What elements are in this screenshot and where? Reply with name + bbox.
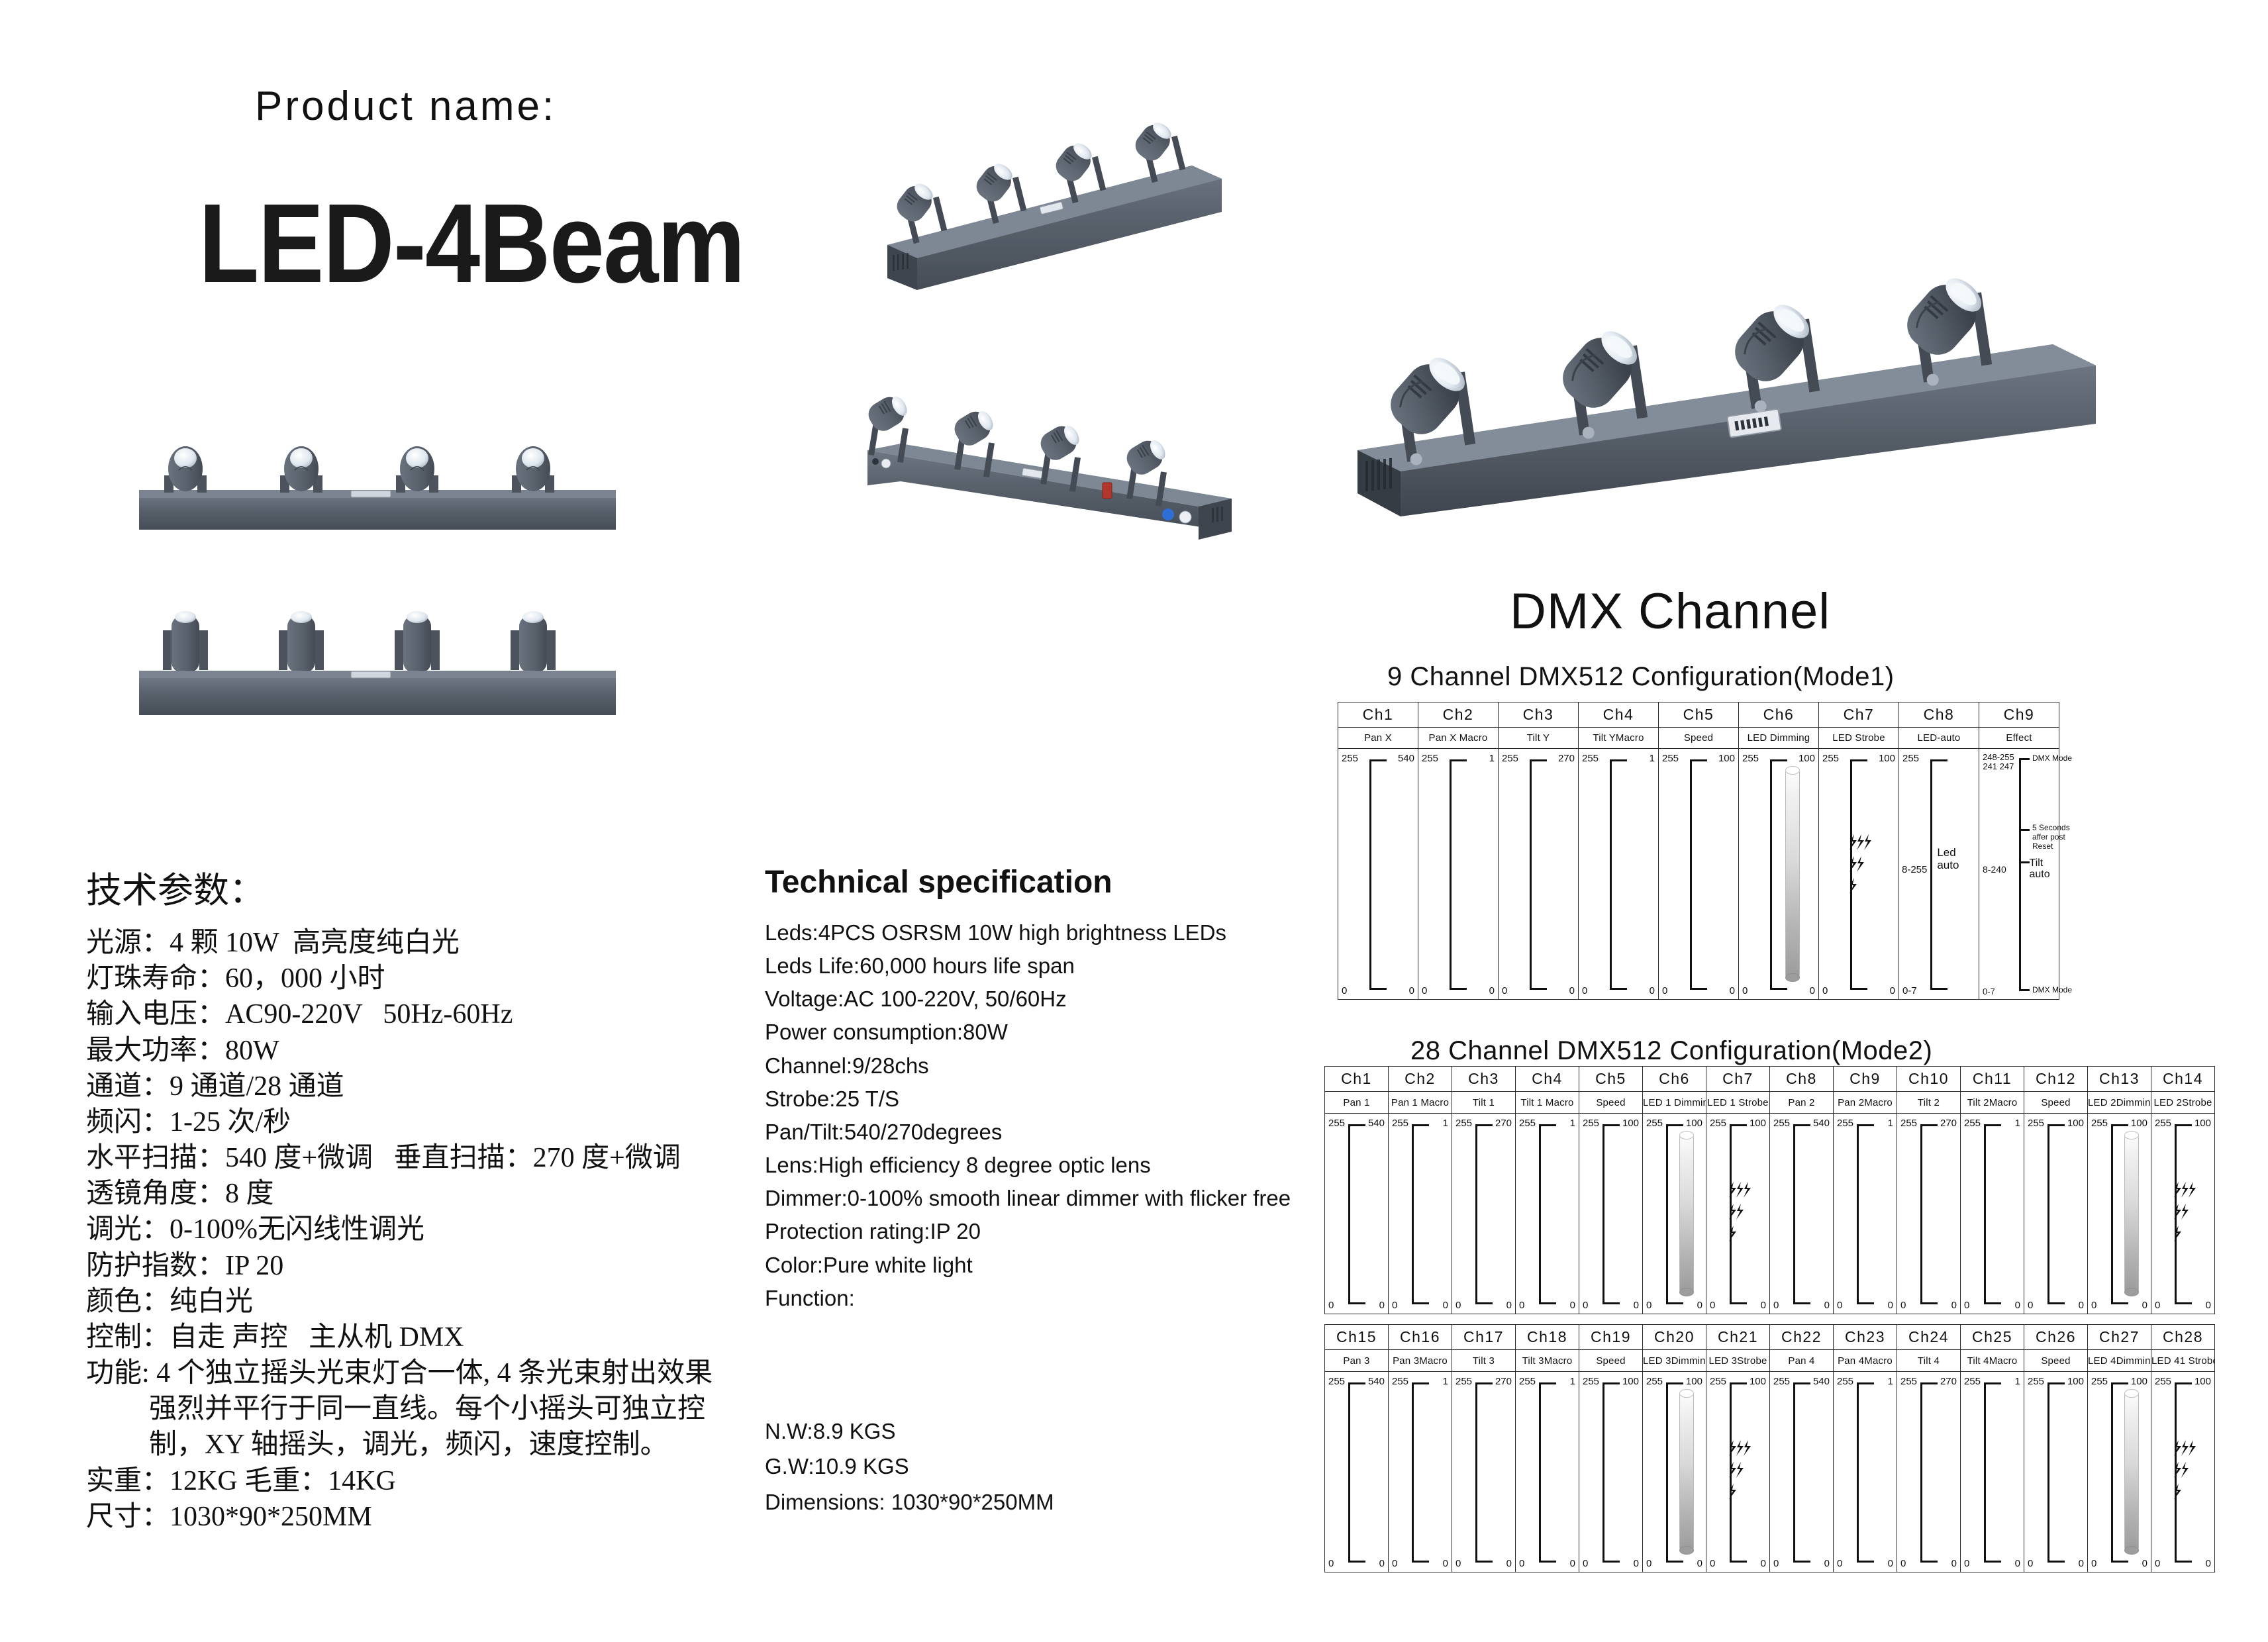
english-weight-line: G.W:10.9 KGS (765, 1449, 1314, 1484)
dmx-range-cell: 25510000 (1643, 1372, 1706, 1572)
dmx-range-container: 255100 (1834, 1371, 1897, 1572)
dmx-channel-header: Ch4 (1579, 702, 1659, 728)
dmx-header-row: Ch1Ch2Ch3Ch4Ch5Ch6Ch7Ch8Ch9 (1338, 702, 2059, 728)
dmx-channel-header: Ch9 (1834, 1067, 1897, 1092)
dmx-function-label: Tilt 4Macro (1961, 1350, 2024, 1371)
chinese-spec-line: 水平扫描：540 度+微调 垂直扫描：270 度+微调 (86, 1140, 755, 1176)
product-photo-front-bottom (132, 603, 622, 728)
dmx-range-container: 255100 (1389, 1113, 1452, 1314)
dimmer-tube-icon (2124, 1389, 2139, 1555)
dmx-range-cell: 25510000 (1659, 749, 1738, 999)
dmx-channel-header: Ch18 (1516, 1325, 1579, 1350)
dmx-channel-header: Ch2 (1389, 1067, 1452, 1092)
chinese-spec-block: 技术参数： 光源：4 颗 10W 高亮度纯白光灯珠寿命：60，000 小时输入电… (86, 861, 755, 1535)
dmx-range-cell: 255100 (1389, 1372, 1452, 1572)
dmx-function-label: Speed (2024, 1350, 2088, 1371)
chinese-spec-heading: 技术参数： (86, 861, 755, 913)
dmx-range-cell: 25554000 (1770, 1114, 1833, 1314)
dmx-function-label: Tilt Y (1499, 728, 1579, 749)
dmx-range-container: 255100 (1418, 749, 1499, 1000)
dmx-channel-header: Ch28 (2151, 1325, 2215, 1350)
dmx-function-label: Tilt YMacro (1579, 728, 1659, 749)
english-spec-line: Pan/Tilt:540/270degrees (765, 1116, 1314, 1149)
dmx-channel-header: Ch26 (2024, 1325, 2088, 1350)
dmx-channel-header: Ch21 (1706, 1325, 1770, 1350)
english-spec-block: Technical specification Leds:4PCS OSRSM … (765, 864, 1314, 1315)
chinese-spec-line: 控制：自走 声控 主从机 DMX (86, 1320, 755, 1355)
dmx-channel-header: Ch12 (2024, 1067, 2088, 1092)
chinese-spec-line: 最大功率：80W (86, 1033, 755, 1069)
dmx-range-cell: 248-255241 2470-7DMX Mode5 Secondsaffer … (1979, 749, 2059, 999)
english-spec-heading: Technical specification (765, 864, 1314, 900)
dmx-range-cell: 25527000 (1452, 1372, 1515, 1572)
dmx-function-label: Pan 3Macro (1389, 1350, 1452, 1371)
chinese-spec-line: 尺寸：1030*90*250MM (86, 1499, 755, 1535)
dmx-range-container: 25510000 (1643, 1371, 1706, 1572)
dmx-range-container: 255100 (1834, 1113, 1897, 1314)
english-spec-line: Lens:High efficiency 8 degree optic lens (765, 1149, 1314, 1182)
dmx-channel-header: Ch8 (1899, 702, 1979, 728)
dmx-function-label: Speed (1659, 728, 1739, 749)
chinese-spec-line: 颜色：纯白光 (86, 1284, 755, 1320)
dmx-channel-header: Ch14 (2151, 1067, 2215, 1092)
page-title: LED-4Beam (199, 179, 744, 309)
dmx-range-cell: 255100 (1834, 1372, 1897, 1572)
chinese-spec-line: 通道：9 通道/28 通道 (86, 1069, 755, 1104)
dmx-function-label: Pan 4 (1770, 1350, 1834, 1371)
dmx-channel-header: Ch24 (1897, 1325, 1961, 1350)
dmx-function-label: Pan 2Macro (1834, 1092, 1897, 1113)
dmx-channel-header: Ch5 (1659, 702, 1739, 728)
dmx-range-container: 25510000 (1706, 1371, 1770, 1572)
dmx-table-mode1: Ch1Ch2Ch3Ch4Ch5Ch6Ch7Ch8Ch9Pan XPan X Ma… (1338, 702, 2059, 1000)
dmx-range-cell: 25527000 (1499, 749, 1578, 999)
dmx-channel-header: Ch7 (1706, 1067, 1770, 1092)
dmx-range-cell: 25554000 (1770, 1372, 1833, 1572)
chinese-spec-line: 功能: 4 个独立摇头光束灯合一体, 4 条光束射出效果 (86, 1355, 755, 1391)
english-spec-line: Color:Pure white light (765, 1249, 1314, 1282)
dmx-table-mode2-row2: Ch15Ch16Ch17Ch18Ch19Ch20Ch21Ch22Ch23Ch24… (1324, 1324, 2215, 1572)
dmx-range-cell: 255100 (1418, 749, 1498, 999)
chinese-spec-line: 强烈并平行于同一直线。每个小摇头可独立控 (86, 1391, 755, 1427)
dmx-channel-header: Ch6 (1643, 1067, 1706, 1092)
dmx-range-cell: 25527000 (1897, 1372, 1960, 1572)
dmx-range-cell: 255100 (1389, 1114, 1452, 1314)
chinese-spec-line: 频闪：1-25 次/秒 (86, 1104, 755, 1140)
dmx-function-label: Speed (1579, 1092, 1643, 1113)
dmx-function-label: Pan 4Macro (1834, 1350, 1897, 1371)
dmx-function-row: Pan XPan X MacroTilt YTilt YMacroSpeedLE… (1338, 728, 2059, 749)
dmx-channel-header: Ch25 (1961, 1325, 2024, 1350)
dmx-function-label: Pan 3 (1325, 1350, 1389, 1371)
dmx-function-label: LED Dimming (1739, 728, 1819, 749)
dmx-range-container: 25510000 (1579, 1113, 1643, 1314)
product-photo-front-top (132, 444, 622, 536)
fixture-front-view-2-svg (132, 603, 622, 728)
dmx-range-cell: 25510000 (2088, 1114, 2151, 1314)
dmx-range-row: 2555400025510025527000255100255100002551… (1325, 1113, 2215, 1314)
dmx-function-label: LED 41 Strobe (2151, 1350, 2215, 1371)
dmx-range-cell: 25510000 (1643, 1114, 1706, 1314)
dmx-range-cell: 255100 (1516, 1114, 1579, 1314)
dmx-channel-header: Ch2 (1418, 702, 1499, 728)
dmx-range-container: 25527000 (1897, 1371, 1961, 1572)
dmx-function-label: Tilt 2Macro (1961, 1092, 2024, 1113)
dmx-range-cell: 25510000 (2024, 1372, 2087, 1572)
dmx-channel-header: Ch19 (1579, 1325, 1643, 1350)
english-spec-line: Protection rating:IP 20 (765, 1215, 1314, 1248)
dimmer-tube-icon (2124, 1131, 2139, 1296)
english-weight-line: Dimensions: 1030*90*250MM (765, 1484, 1314, 1520)
dmx-channel-header: Ch17 (1452, 1325, 1516, 1350)
english-spec-line: Strobe:25 T/S (765, 1083, 1314, 1116)
dmx-table-mode2-row1: Ch1Ch2Ch3Ch4Ch5Ch6Ch7Ch8Ch9Ch10Ch11Ch12C… (1324, 1066, 2215, 1314)
dmx-range-container: 25510000 (1739, 749, 1819, 1000)
dmx-channel-header: Ch6 (1739, 702, 1819, 728)
dmx-range-cell: 25527000 (1452, 1114, 1515, 1314)
dmx-function-label: LED-auto (1899, 728, 1979, 749)
dmx-range-cell: 25510000 (2088, 1372, 2151, 1572)
dmx-range-container: 25527000 (1499, 749, 1579, 1000)
mode2-title: 28 Channel DMX512 Configuration(Mode2) (1410, 1036, 1932, 1066)
dmx-channel-header: Ch3 (1499, 702, 1579, 728)
strobe-bolts-icon (2173, 1440, 2198, 1500)
dmx-function-label: Pan X Macro (1418, 728, 1499, 749)
dmx-range-row: 2555400025510025527000255100255100002551… (1325, 1371, 2215, 1572)
dmx-range-container: 255100 (1516, 1371, 1579, 1572)
chinese-spec-line: 透镜角度：8 度 (86, 1176, 755, 1212)
strobe-bolts-icon (1728, 1182, 1753, 1241)
dmx-range-container: 25510000 (2151, 1113, 2215, 1314)
dmx-range-container: 25554000 (1338, 749, 1418, 1000)
dmx-range-cell: 255100 (1834, 1114, 1897, 1314)
english-spec-line: Function: (765, 1282, 1314, 1315)
dmx-function-label: LED 4Dimming (2088, 1350, 2151, 1371)
dmx-range-cell: 25510000 (1579, 1114, 1642, 1314)
dmx-function-label: Pan X (1338, 728, 1418, 749)
dmx-range-container: 25527000 (1452, 1113, 1516, 1314)
english-spec-line: Channel:9/28chs (765, 1049, 1314, 1083)
english-spec-line: Voltage:AC 100-220V, 50/60Hz (765, 983, 1314, 1016)
dmx-range-container: 255100 (1579, 749, 1659, 1000)
chinese-spec-line: 制，XY 轴摇头，调光，频闪，速度控制。 (86, 1427, 755, 1463)
dmx-range-container: 25554000 (1770, 1371, 1834, 1572)
dmx-range-container: 255100 (1961, 1371, 2024, 1572)
product-photo-hero (1318, 93, 2112, 530)
dmx-range-container: 255100 (1961, 1113, 2024, 1314)
dmx-range-container: 25554000 (1770, 1113, 1834, 1314)
dmx-function-label: LED 2Strobe (2151, 1092, 2215, 1113)
dmx-range-cell: 255100 (1516, 1372, 1579, 1572)
fixture-angled-view-2-svg (854, 341, 1245, 540)
dmx-range-container: 25510000 (1819, 749, 1899, 1000)
dmx-range-container: 255100 (1516, 1113, 1579, 1314)
dmx-range-container: 248-255241 2470-7DMX Mode5 Secondsaffer … (1979, 749, 2059, 1000)
english-weights-list: N.W:8.9 KGSG.W:10.9 KGSDimensions: 1030*… (765, 1414, 1314, 1520)
dmx-range-container: 25510000 (1706, 1113, 1770, 1314)
dmx-function-label: Tilt 3Macro (1516, 1350, 1579, 1371)
dmx-range-cell: 25527000 (1897, 1114, 1960, 1314)
chinese-spec-line: 实重：12KG 毛重：14KG (86, 1463, 755, 1499)
dmx-range-container: 25510000 (2151, 1371, 2215, 1572)
dmx-range-container: 255100 (1389, 1371, 1452, 1572)
english-spec-line: Leds Life:60,000 hours life span (765, 949, 1314, 983)
dmx-function-label: Tilt 1 Macro (1516, 1092, 1579, 1113)
strobe-bolts-icon (1849, 834, 1874, 894)
dmx-function-label: LED Strobe (1819, 728, 1899, 749)
chinese-spec-line: 输入电压：AC90-220V 50Hz-60Hz (86, 996, 755, 1032)
dmx-function-label: Speed (2024, 1092, 2088, 1113)
product-photo-angled-top (861, 113, 1232, 305)
dmx-range-cell: 25554000 (1325, 1114, 1388, 1314)
english-weights-block: N.W:8.9 KGSG.W:10.9 KGSDimensions: 1030*… (765, 1414, 1314, 1520)
dmx-range-cell: 25510000 (2151, 1114, 2214, 1314)
dmx-header-row: Ch15Ch16Ch17Ch18Ch19Ch20Ch21Ch22Ch23Ch24… (1325, 1325, 2215, 1350)
dmx-channel-header: Ch9 (1979, 702, 2059, 728)
fixture-front-view-svg (132, 444, 622, 536)
dimmer-tube-icon (1679, 1131, 1694, 1296)
dmx-range-cell: 255100 (1579, 749, 1658, 999)
product-name-label: Product name: (255, 83, 556, 130)
dmx-range-container: 25510000 (2024, 1113, 2088, 1314)
dmx-range-container: 25510000 (1579, 1371, 1643, 1572)
dmx-range-container: 25510000 (2088, 1113, 2151, 1314)
strobe-bolts-icon (2173, 1182, 2198, 1241)
dmx-function-label: Effect (1979, 728, 2059, 749)
dmx-function-label: LED 1 Strobe (1706, 1092, 1770, 1113)
dmx-channel-header: Ch7 (1819, 702, 1899, 728)
dmx-range-container: 25510000 (2024, 1371, 2088, 1572)
english-spec-list: Leds:4PCS OSRSM 10W high brightness LEDs… (765, 916, 1314, 1315)
dmx-range-cell: 25510000 (2024, 1114, 2087, 1314)
dmx-channel-header: Ch15 (1325, 1325, 1389, 1350)
dmx-channel-header: Ch1 (1325, 1067, 1389, 1092)
dmx-function-label: Tilt 2 (1897, 1092, 1961, 1113)
dmx-function-label: Speed (1579, 1350, 1643, 1371)
dmx-range-cell: 25510000 (2151, 1372, 2214, 1572)
dmx-range-row: 2555400025510025527000255100255100002551… (1338, 749, 2059, 1000)
dmx-function-row: Pan 1Pan 1 MacroTilt 1Tilt 1 MacroSpeedL… (1325, 1092, 2215, 1113)
dmx-channel-header: Ch11 (1961, 1067, 2024, 1092)
dmx-channel-header: Ch8 (1770, 1067, 1834, 1092)
dmx-range-cell: 25510000 (1579, 1372, 1642, 1572)
fixture-angled-view-svg (861, 113, 1232, 305)
dmx-function-label: Pan 2 (1770, 1092, 1834, 1113)
dmx-function-row: Pan 3Pan 3MacroTilt 3Tilt 3MacroSpeedLED… (1325, 1350, 2215, 1371)
strobe-bolts-icon (1728, 1440, 1753, 1500)
dmx-channel-header: Ch22 (1770, 1325, 1834, 1350)
dmx-range-container: 2550-78-255Ledauto (1899, 749, 1979, 1000)
dmx-range-container: 25510000 (1643, 1113, 1706, 1314)
dmx-range-cell: 25554000 (1325, 1372, 1388, 1572)
dimmer-tube-icon (1785, 766, 1800, 982)
dmx-function-label: Tilt 4 (1897, 1350, 1961, 1371)
dmx-header-row: Ch1Ch2Ch3Ch4Ch5Ch6Ch7Ch8Ch9Ch10Ch11Ch12C… (1325, 1067, 2215, 1092)
dmx-range-cell: 255100 (1961, 1114, 2024, 1314)
dmx-channel-header: Ch3 (1452, 1067, 1516, 1092)
dmx-range-cell: 25510000 (1706, 1372, 1769, 1572)
dmx-range-container: 25510000 (1659, 749, 1739, 1000)
dimmer-tube-icon (1679, 1389, 1694, 1555)
english-weight-line: N.W:8.9 KGS (765, 1414, 1314, 1449)
chinese-spec-line: 调光：0-100%无闪线性调光 (86, 1212, 755, 1247)
dmx-range-cell: 255100 (1961, 1372, 2024, 1572)
dmx-function-label: Tilt 1 (1452, 1092, 1516, 1113)
dmx-function-label: Pan 1 (1325, 1092, 1389, 1113)
dmx-channel-header: Ch5 (1579, 1067, 1643, 1092)
product-spec-sheet: Product name: LED-4Beam (0, 0, 2268, 1642)
dmx-range-container: 25554000 (1325, 1113, 1389, 1314)
dmx-function-label: LED 2Dimming (2088, 1092, 2151, 1113)
dmx-channel-header: Ch23 (1834, 1325, 1897, 1350)
dmx-function-label: Tilt 3 (1452, 1350, 1516, 1371)
dmx-range-cell: 25554000 (1338, 749, 1418, 999)
dmx-channel-header: Ch4 (1516, 1067, 1579, 1092)
english-spec-line: Power consumption:80W (765, 1016, 1314, 1049)
dmx-section-title: DMX Channel (1510, 583, 1830, 640)
dmx-channel-header: Ch27 (2088, 1325, 2151, 1350)
english-spec-line: Dimmer:0-100% smooth linear dimmer with … (765, 1182, 1314, 1215)
dmx-function-label: LED 3Dimming (1643, 1350, 1706, 1371)
fixture-hero-svg (1318, 93, 2112, 530)
dmx-function-label: LED 3Strobe (1706, 1350, 1770, 1371)
dmx-channel-header: Ch10 (1897, 1067, 1961, 1092)
dmx-range-cell: 25510000 (1819, 749, 1898, 999)
chinese-spec-line: 灯珠寿命：60，000 小时 (86, 961, 755, 996)
mode1-title: 9 Channel DMX512 Configuration(Mode1) (1387, 662, 1895, 692)
dmx-range-container: 25554000 (1325, 1371, 1389, 1572)
dmx-channel-header: Ch13 (2088, 1067, 2151, 1092)
dmx-range-cell: 2550-78-255Ledauto (1899, 749, 1979, 999)
product-photo-angled-bottom (854, 341, 1245, 540)
dmx-range-container: 25510000 (2088, 1371, 2151, 1572)
chinese-spec-line: 防护指数：IP 20 (86, 1248, 755, 1284)
dmx-range-container: 25527000 (1452, 1371, 1516, 1572)
dmx-function-label: Pan 1 Macro (1389, 1092, 1452, 1113)
chinese-spec-line: 光源：4 颗 10W 高亮度纯白光 (86, 925, 755, 961)
english-spec-line: Leds:4PCS OSRSM 10W high brightness LEDs (765, 916, 1314, 949)
chinese-spec-list: 光源：4 颗 10W 高亮度纯白光灯珠寿命：60，000 小时输入电压：AC90… (86, 925, 755, 1535)
dmx-function-label: LED 1 Dimming (1643, 1092, 1706, 1113)
dmx-channel-header: Ch20 (1643, 1325, 1706, 1350)
dmx-channel-header: Ch16 (1389, 1325, 1452, 1350)
dmx-range-container: 25527000 (1897, 1113, 1961, 1314)
dmx-range-cell: 25510000 (1706, 1114, 1769, 1314)
dmx-channel-header: Ch1 (1338, 702, 1418, 728)
dmx-range-cell: 25510000 (1739, 749, 1818, 999)
